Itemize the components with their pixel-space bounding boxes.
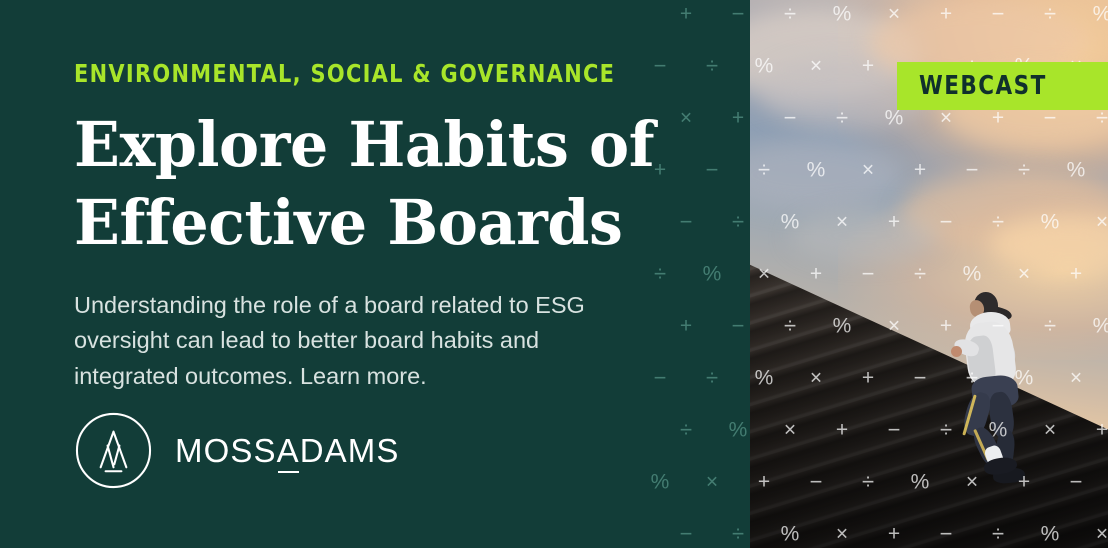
cloud: [790, 210, 940, 262]
wordmark-moss: MOSS: [175, 432, 277, 469]
subcopy-line-2: oversight can lead to better board habit…: [74, 323, 654, 359]
wordmark-a-underlined: A: [277, 434, 300, 467]
runner-hand: [951, 346, 962, 357]
page-title: Explore Habits of Effective Boards: [74, 106, 656, 262]
moss-adams-logo[interactable]: MOSSADAMS: [74, 411, 399, 490]
headline-line-1: Explore Habits of: [74, 106, 656, 184]
moss-adams-wordmark: MOSSADAMS: [175, 434, 399, 467]
subcopy-line-3: integrated outcomes. Learn more.: [74, 359, 654, 395]
banner-copy-block: ENVIRONMENTAL, SOCIAL & GOVERNANCE Explo…: [74, 60, 674, 395]
webcast-badge-label: WEBCAST: [919, 71, 1047, 101]
eyebrow-category: ENVIRONMENTAL, SOCIAL & GOVERNANCE: [74, 60, 632, 88]
wordmark-dams: DAMS: [300, 432, 400, 469]
runner-figure: [946, 288, 1058, 474]
moss-adams-mountain-icon: [74, 411, 153, 490]
subcopy-line-1: Understanding the role of a board relate…: [74, 288, 654, 324]
webcast-badge: WEBCAST: [897, 62, 1108, 110]
esg-webcast-banner: +−÷%×+−÷%−÷%×+−÷%×+×+−÷%×+−÷+−÷%×+−÷%×−÷…: [0, 0, 1108, 548]
description-text: Understanding the role of a board relate…: [74, 288, 654, 395]
headline-line-2: Effective Boards: [74, 184, 656, 262]
